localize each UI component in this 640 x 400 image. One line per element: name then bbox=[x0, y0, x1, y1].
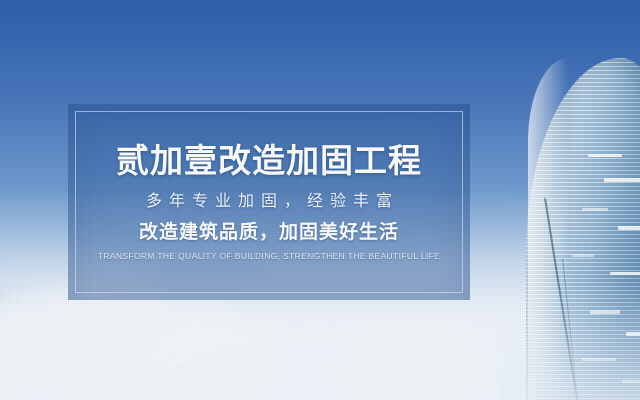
tower-window bbox=[582, 208, 608, 211]
hero-banner: 贰加壹改造加固工程 多年专业加固，经验丰富 改造建筑品质，加固美好生活 TRAN… bbox=[0, 0, 640, 400]
page-title: 贰加壹改造加固工程 bbox=[116, 144, 422, 177]
page-subtitle: 多年专业加固，经验丰富 bbox=[139, 194, 399, 210]
tower-atmospheric-fade bbox=[500, 280, 640, 400]
tower-window bbox=[618, 226, 640, 230]
cloud-puff bbox=[120, 305, 500, 400]
tower-window bbox=[610, 272, 640, 275]
panel-content: 贰加壹改造加固工程 多年专业加固，经验丰富 改造建筑品质，加固美好生活 TRAN… bbox=[68, 104, 470, 300]
tower-window bbox=[588, 154, 622, 157]
curved-glass-skyscraper bbox=[500, 0, 640, 400]
cloud-wisp bbox=[0, 290, 220, 370]
page-slogan: 改造建筑品质，加固美好生活 bbox=[139, 223, 399, 242]
english-tagline: TRANSFORM THE QUALITY OF BUILDING, STREN… bbox=[98, 252, 440, 261]
cloud-puff bbox=[0, 290, 280, 400]
tower-window bbox=[572, 254, 594, 257]
tower-window bbox=[604, 178, 640, 182]
headline-panel: 贰加壹改造加固工程 多年专业加固，经验丰富 改造建筑品质，加固美好生活 TRAN… bbox=[68, 104, 470, 300]
